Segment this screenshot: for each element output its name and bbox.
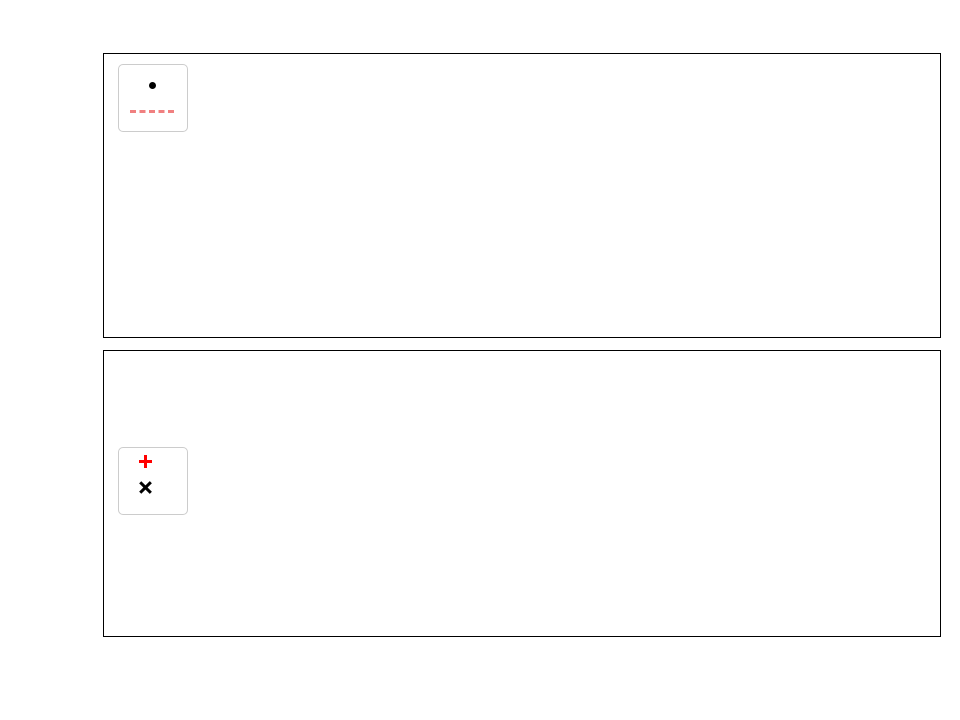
predicted-stars-marker-icon bbox=[128, 483, 176, 505]
top-plot-area bbox=[104, 54, 940, 337]
top-panel-legend bbox=[118, 64, 188, 132]
legend-item-threshold bbox=[128, 98, 176, 124]
figure-root bbox=[0, 0, 960, 720]
bottom-panel-legend bbox=[118, 447, 188, 515]
measurements-marker-icon bbox=[128, 74, 176, 96]
top-panel-ratio-plot bbox=[103, 53, 941, 338]
bottom-plot-area bbox=[104, 351, 940, 636]
matched-stars-marker-icon bbox=[128, 457, 176, 479]
legend-item-measurements bbox=[128, 72, 176, 98]
legend-item-predicted-stars bbox=[128, 481, 176, 507]
threshold-line-icon bbox=[128, 100, 176, 122]
legend-item-matched-stars bbox=[128, 455, 176, 481]
bottom-panel-count-plot bbox=[103, 350, 941, 637]
